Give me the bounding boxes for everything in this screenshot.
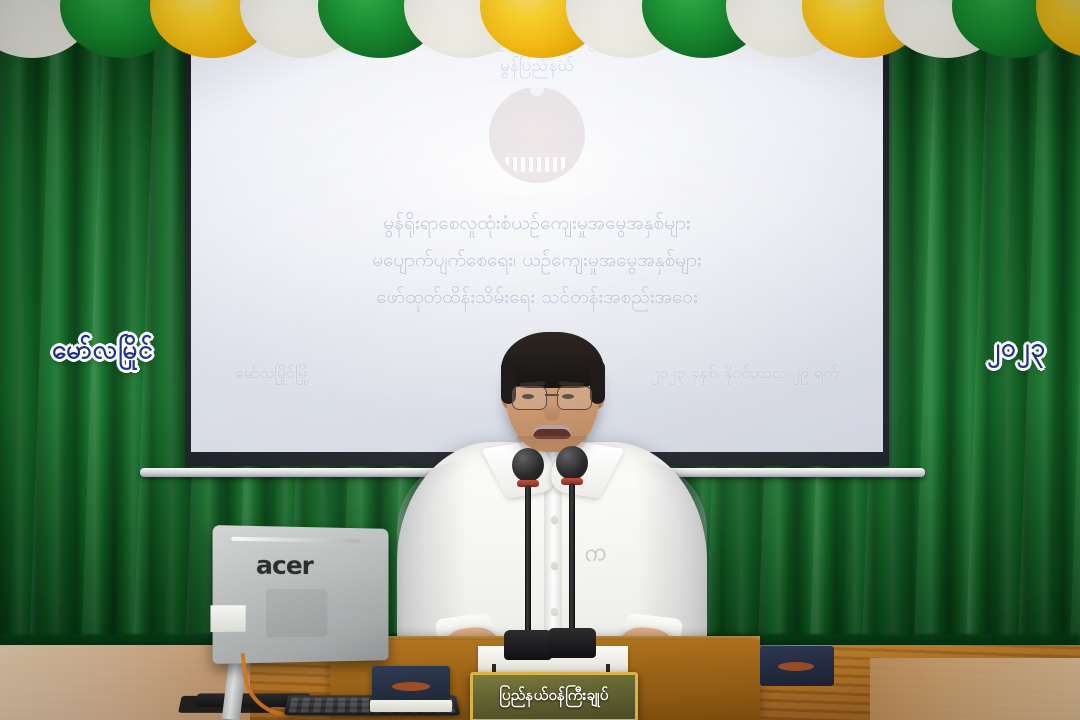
eyeglass-lens-left <box>512 386 547 410</box>
microphone-gooseneck <box>569 483 575 633</box>
monitor-spec-label <box>210 605 245 632</box>
nameplate-text: ပြည်နယ်ဝန်ကြီးချုပ် <box>499 686 608 708</box>
monitor-vesa-mount <box>266 589 327 638</box>
speaker-hair <box>501 332 604 388</box>
floor-highlight-right <box>870 658 1080 720</box>
notebook-seal-icon <box>392 682 430 691</box>
acer-logo: acer <box>256 550 313 580</box>
eyeglass-lens-right <box>557 386 592 410</box>
microphone-base <box>504 630 552 660</box>
acer-monitor: acer <box>213 525 389 664</box>
photo-scene: ပြည်ထောင်စုသမ္မတမြန်မာနိုင်ငံတော် ပြည်နယ… <box>0 0 1080 720</box>
folder-seal-icon <box>778 662 814 671</box>
microphone-base <box>548 628 596 658</box>
microphone-capsule <box>512 448 544 482</box>
speaker-hair-side-right <box>590 360 605 404</box>
microphone-right <box>556 446 590 676</box>
microphone-capsule <box>556 446 588 480</box>
notebook-pages <box>370 700 452 712</box>
microphone-gooseneck <box>525 485 531 635</box>
monitor-vent <box>231 537 360 543</box>
desk-folder-right <box>760 646 834 686</box>
nameplate: ပြည်နယ်ဝန်ကြီးချုပ် <box>470 672 638 720</box>
microphone-left <box>512 448 546 678</box>
speaker-nose <box>544 402 560 421</box>
